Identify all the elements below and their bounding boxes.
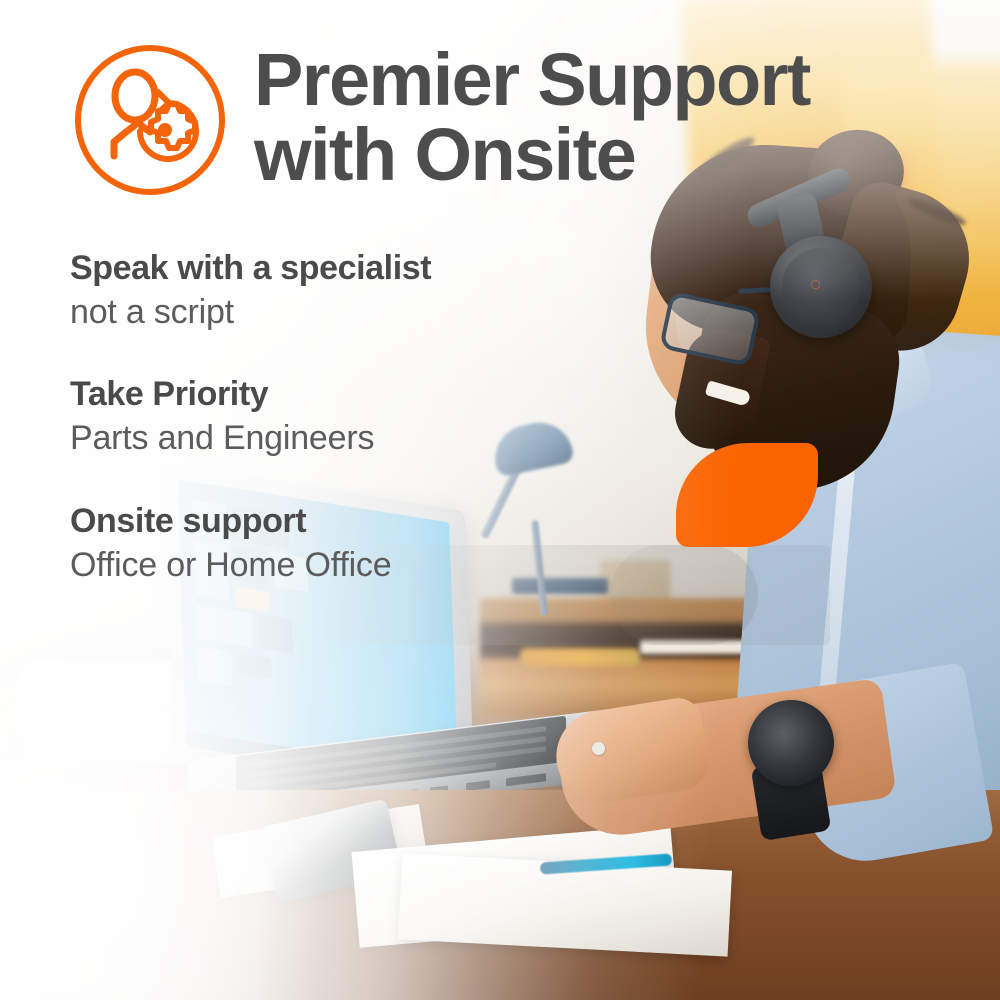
promo-content: Premier Support with Onsite Speak with a… (0, 0, 1000, 1000)
feature-subtitle: not a script (70, 290, 710, 334)
promo-card: ◌ (0, 0, 1000, 1000)
header-row: Premier Support with Onsite (70, 36, 810, 200)
feature-title: Speak with a specialist (70, 248, 710, 288)
feature-list: Speak with a specialist not a script Tak… (70, 248, 710, 587)
feature-title: Onsite support (70, 501, 710, 541)
feature-title: Take Priority (70, 374, 710, 414)
feature-subtitle: Office or Home Office (70, 543, 710, 587)
feature-item-take-priority: Take Priority Parts and Engineers (70, 374, 710, 460)
user-support-gear-icon (70, 40, 230, 200)
feature-item-speak-with-specialist: Speak with a specialist not a script (70, 248, 710, 334)
feature-subtitle: Parts and Engineers (70, 416, 710, 460)
page-title: Premier Support with Onsite (254, 36, 810, 193)
feature-item-onsite-support: Onsite support Office or Home Office (70, 501, 710, 587)
